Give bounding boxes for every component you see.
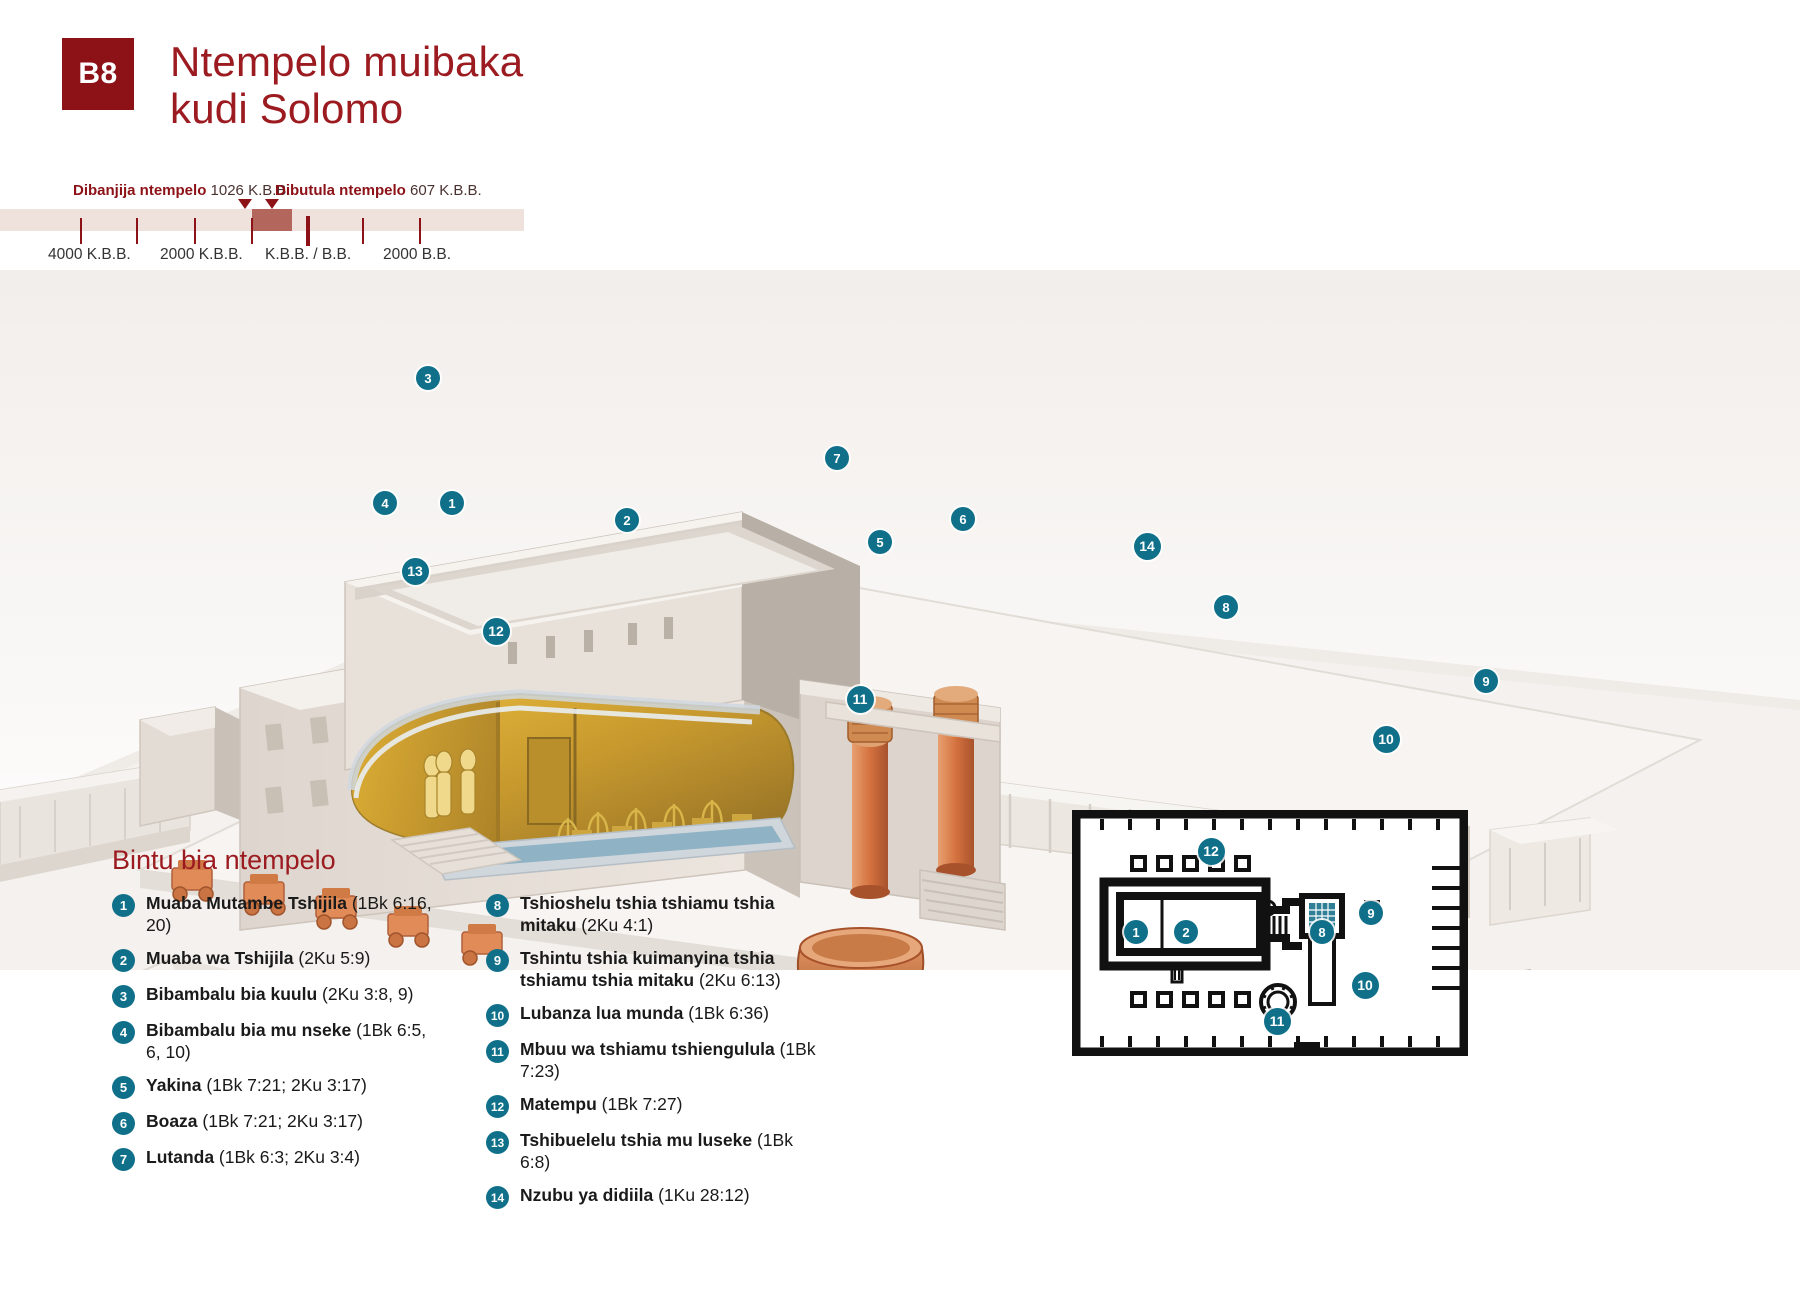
legend-marker-11: 11	[486, 1040, 509, 1063]
legend-marker-13: 13	[486, 1131, 509, 1154]
legend: Bintu bia ntempelo 1Muaba Mutambe Tshiji…	[112, 845, 852, 1220]
illustration-marker-11[interactable]: 11	[847, 686, 874, 713]
legend-item-1[interactable]: 1Muaba Mutambe Tshijila (1Bk 6:16, 20)	[112, 892, 442, 936]
floor-plan-marker-12[interactable]: 12	[1198, 838, 1225, 865]
legend-item-text: Boaza (1Bk 7:21; 2Ku 3:17)	[146, 1110, 363, 1135]
illustration-marker-2[interactable]: 2	[615, 508, 639, 532]
legend-item-reference: (1Bk 7:21; 2Ku 3:17)	[201, 1075, 366, 1095]
legend-item-reference: (2Ku 5:9)	[294, 948, 371, 968]
legend-marker-6: 6	[112, 1112, 135, 1135]
legend-item-text: Muaba wa Tshijila (2Ku 5:9)	[146, 947, 370, 972]
legend-item-reference: (1Bk 7:27)	[597, 1094, 683, 1114]
legend-item-5[interactable]: 5Yakina (1Bk 7:21; 2Ku 3:17)	[112, 1074, 442, 1099]
timeline-tick-label-0: 4000 K.B.B.	[48, 246, 131, 264]
timeline-event-arrow	[238, 199, 252, 209]
legend-marker-5: 5	[112, 1076, 135, 1099]
legend-item-reference: (1Bk 6:3; 2Ku 3:4)	[214, 1147, 360, 1167]
legend-item-text: Muaba Mutambe Tshijila (1Bk 6:16, 20)	[146, 892, 442, 936]
timeline-event-1-label: Dibutula ntempelo	[275, 182, 406, 199]
illustration-marker-10[interactable]: 10	[1373, 726, 1400, 753]
legend-item-12[interactable]: 12Matempu (1Bk 7:27)	[486, 1093, 816, 1118]
legend-item-3[interactable]: 3Bibambalu bia kuulu (2Ku 3:8, 9)	[112, 983, 442, 1008]
timeline-tick	[251, 218, 253, 244]
legend-item-text: Lubanza lua munda (1Bk 6:36)	[520, 1002, 769, 1027]
illustration-marker-5[interactable]: 5	[868, 530, 892, 554]
legend-item-2[interactable]: 2Muaba wa Tshijila (2Ku 5:9)	[112, 947, 442, 972]
legend-marker-2: 2	[112, 949, 135, 972]
pillar-boaz	[934, 686, 978, 877]
legend-item-text: Mbuu wa tshiamu tshiengulula (1Bk 7:23)	[520, 1038, 816, 1082]
floor-plan-marker-10[interactable]: 10	[1352, 972, 1379, 999]
timeline-tick-label-1: 2000 K.B.B.	[160, 246, 243, 264]
legend-item-text: Lutanda (1Bk 6:3; 2Ku 3:4)	[146, 1146, 360, 1171]
legend-item-name: Matempu	[520, 1094, 597, 1114]
west-wing-block	[140, 707, 245, 826]
legend-item-reference: (2Ku 6:13)	[694, 970, 781, 990]
legend-item-9[interactable]: 9Tshintu tshia kuimanyina tshia tshiamu …	[486, 947, 816, 991]
legend-item-text: Yakina (1Bk 7:21; 2Ku 3:17)	[146, 1074, 367, 1099]
legend-title: Bintu bia ntempelo	[112, 845, 852, 876]
page-title: Ntempelo muibaka kudi Solomo	[170, 38, 523, 132]
illustration-marker-14[interactable]: 14	[1134, 533, 1161, 560]
illustration-marker-9[interactable]: 9	[1474, 669, 1498, 693]
legend-marker-10: 10	[486, 1004, 509, 1027]
timeline-tick	[362, 218, 364, 244]
temple-floor-plan: 1212891011	[1072, 810, 1468, 1056]
legend-item-name: Mbuu wa tshiamu tshiengulula	[520, 1039, 775, 1059]
timeline-event-1-date: 607 K.B.B.	[406, 182, 482, 199]
legend-marker-4: 4	[112, 1021, 135, 1044]
legend-item-name: Muaba Mutambe Tshijila	[146, 893, 347, 913]
floor-plan-marker-8[interactable]: 8	[1310, 920, 1334, 944]
legend-item-text: Bibambalu bia kuulu (2Ku 3:8, 9)	[146, 983, 413, 1008]
legend-marker-1: 1	[112, 894, 135, 917]
illustration-marker-6[interactable]: 6	[951, 507, 975, 531]
timeline-event-0-label: Dibanjija ntempelo	[73, 182, 206, 199]
legend-item-text: Tshioshelu tshia tshiamu tshia mitaku (2…	[520, 892, 816, 936]
legend-item-11[interactable]: 11Mbuu wa tshiamu tshiengulula (1Bk 7:23…	[486, 1038, 816, 1082]
legend-item-text: Matempu (1Bk 7:27)	[520, 1093, 682, 1118]
illustration-marker-8[interactable]: 8	[1214, 595, 1238, 619]
legend-item-text: Nzubu ya didiila (1Ku 28:12)	[520, 1184, 750, 1209]
legend-item-name: Tshibuelelu tshia mu luseke	[520, 1130, 752, 1150]
legend-item-reference: (2Ku 3:8, 9)	[317, 984, 413, 1004]
legend-item-name: Bibambalu bia mu nseke	[146, 1020, 351, 1040]
timeline-event-0: Dibanjija ntempelo 1026 K.B.B.	[73, 182, 291, 199]
legend-item-name: Yakina	[146, 1075, 201, 1095]
legend-item-text: Tshibuelelu tshia mu luseke (1Bk 6:8)	[520, 1129, 816, 1173]
legend-item-reference: (1Bk 7:21; 2Ku 3:17)	[198, 1111, 363, 1131]
illustration-marker-12[interactable]: 12	[483, 618, 510, 645]
legend-column-right: 8Tshioshelu tshia tshiamu tshia mitaku (…	[486, 892, 816, 1220]
legend-item-4[interactable]: 4Bibambalu bia mu nseke (1Bk 6:5, 6, 10)	[112, 1019, 442, 1063]
legend-item-13[interactable]: 13Tshibuelelu tshia mu luseke (1Bk 6:8)	[486, 1129, 816, 1173]
illustration-marker-3[interactable]: 3	[416, 366, 440, 390]
legend-item-reference: (1Bk 6:36)	[683, 1003, 769, 1023]
legend-item-name: Nzubu ya didiila	[520, 1185, 653, 1205]
legend-item-6[interactable]: 6Boaza (1Bk 7:21; 2Ku 3:17)	[112, 1110, 442, 1135]
illustration-marker-4[interactable]: 4	[373, 491, 397, 515]
legend-item-name: Lubanza lua munda	[520, 1003, 683, 1023]
legend-marker-9: 9	[486, 949, 509, 972]
illustration-marker-7[interactable]: 7	[825, 446, 849, 470]
legend-marker-14: 14	[486, 1186, 509, 1209]
illustration-marker-1[interactable]: 1	[440, 491, 464, 515]
timeline-tick-major	[306, 216, 310, 246]
floor-plan-marker-2[interactable]: 2	[1174, 920, 1198, 944]
timeline-event-arrow	[265, 199, 279, 209]
legend-item-7[interactable]: 7Lutanda (1Bk 6:3; 2Ku 3:4)	[112, 1146, 442, 1171]
page-header: B8 Ntempelo muibaka kudi Solomo	[62, 38, 523, 132]
legend-item-name: Muaba wa Tshijila	[146, 948, 294, 968]
timeline: Dibanjija ntempelo 1026 K.B.B. Dibutula …	[0, 196, 530, 266]
legend-column-left: 1Muaba Mutambe Tshijila (1Bk 6:16, 20)2M…	[112, 892, 442, 1220]
legend-marker-7: 7	[112, 1148, 135, 1171]
timeline-highlight-span	[252, 209, 292, 231]
legend-item-text: Bibambalu bia mu nseke (1Bk 6:5, 6, 10)	[146, 1019, 442, 1063]
legend-marker-8: 8	[486, 894, 509, 917]
legend-marker-12: 12	[486, 1095, 509, 1118]
legend-item-name: Boaza	[146, 1111, 198, 1131]
timeline-event-1: Dibutula ntempelo 607 K.B.B.	[275, 182, 482, 199]
timeline-tick-label-2: K.B.B. / B.B.	[265, 246, 351, 264]
legend-item-reference: (2Ku 4:1)	[576, 915, 653, 935]
timeline-tick	[80, 218, 82, 244]
floor-plan-marker-11[interactable]: 11	[1264, 1008, 1291, 1035]
floor-plan-marker-1[interactable]: 1	[1124, 920, 1148, 944]
legend-marker-3: 3	[112, 985, 135, 1008]
legend-item-10[interactable]: 10Lubanza lua munda (1Bk 6:36)	[486, 1002, 816, 1027]
illustration-marker-13[interactable]: 13	[402, 558, 429, 585]
legend-item-8[interactable]: 8Tshioshelu tshia tshiamu tshia mitaku (…	[486, 892, 816, 936]
floor-plan-marker-9[interactable]: 9	[1359, 901, 1383, 925]
legend-item-14[interactable]: 14Nzubu ya didiila (1Ku 28:12)	[486, 1184, 816, 1209]
legend-item-text: Tshintu tshia kuimanyina tshia tshiamu t…	[520, 947, 816, 991]
timeline-tick-label-3: 2000 B.B.	[383, 246, 451, 264]
legend-item-reference: (1Ku 28:12)	[653, 1185, 749, 1205]
timeline-tick	[136, 218, 138, 244]
legend-item-name: Bibambalu bia kuulu	[146, 984, 317, 1004]
timeline-tick	[194, 218, 196, 244]
legend-item-name: Lutanda	[146, 1147, 214, 1167]
timeline-tick	[419, 218, 421, 244]
section-badge: B8	[62, 38, 134, 110]
